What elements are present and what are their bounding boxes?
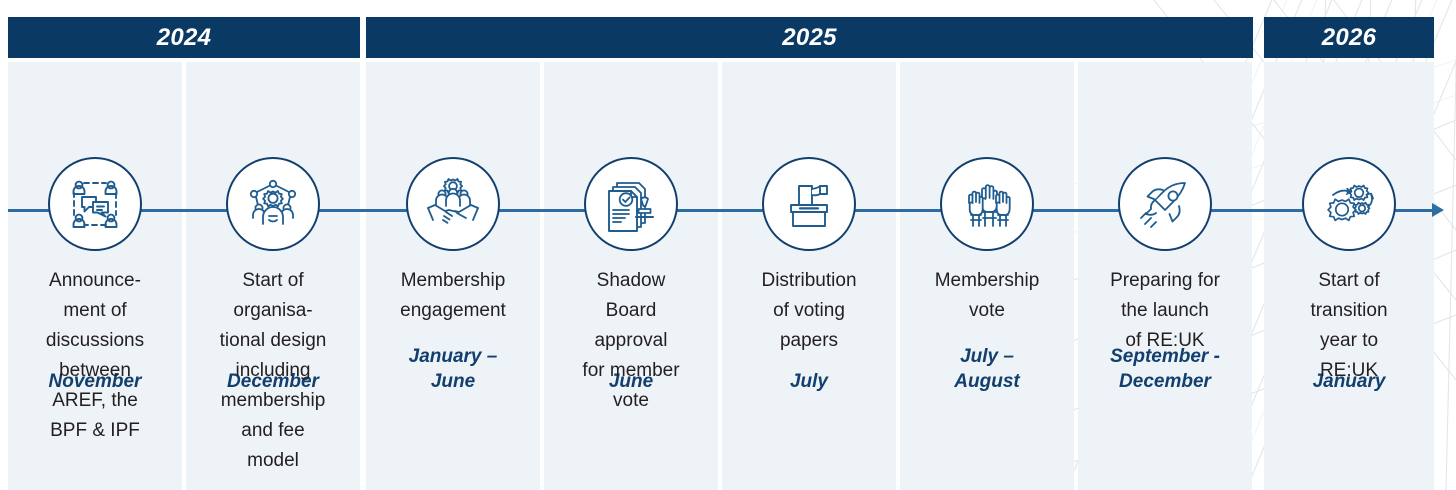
milestone-description: Membership engagement <box>366 266 540 326</box>
gears-transition-icon <box>1321 176 1377 232</box>
document-approval-stamp-icon <box>603 176 659 232</box>
milestone-description: Membership vote <box>900 266 1074 326</box>
milestone-december-2024[interactable]: December Start of organisa- tional desig… <box>186 62 360 490</box>
handshake-engagement-icon <box>424 175 482 233</box>
milestone-description: Shadow Board approval for member vote <box>544 266 718 416</box>
milestone-january-june-2025[interactable]: January – June Membership engagement <box>366 62 540 490</box>
raised-hands-vote-icon <box>960 177 1014 231</box>
rocket-launch-icon <box>1138 177 1192 231</box>
milestone-icon-circle[interactable] <box>226 157 320 251</box>
year-bar-2025: 2025 <box>366 17 1253 58</box>
milestone-july-2025[interactable]: July Distribution of voting papers <box>722 62 896 490</box>
milestone-month-label: July – August <box>900 344 1074 394</box>
milestone-november-2024[interactable]: November Announce- ment of discussions b… <box>8 62 182 490</box>
year-bar-2024: 2024 <box>8 17 360 58</box>
milestone-icon-circle[interactable] <box>584 157 678 251</box>
milestone-icon-circle[interactable] <box>48 157 142 251</box>
milestone-september-december-2025[interactable]: September - December Preparing for the l… <box>1078 62 1252 490</box>
milestone-icon-circle[interactable] <box>762 157 856 251</box>
milestone-description: Preparing for the launch of RE:UK <box>1078 266 1252 356</box>
organisational-design-icon <box>245 176 301 232</box>
milestone-description: Start of organisa- tional design includi… <box>186 266 360 476</box>
milestone-icon-circle[interactable] <box>1118 157 1212 251</box>
milestone-july-august-2025[interactable]: July – August Membership vote <box>900 62 1074 490</box>
milestone-june-2025[interactable]: June Shadow Board approval for member vo… <box>544 62 718 490</box>
milestone-month-label: January – June <box>366 344 540 394</box>
milestone-month-label: July <box>722 369 896 394</box>
milestone-icon-circle[interactable] <box>940 157 1034 251</box>
ballot-box-icon <box>781 176 837 232</box>
milestone-description: Start of transition year to RE:UK <box>1264 266 1434 386</box>
milestone-icon-circle[interactable] <box>406 157 500 251</box>
milestone-january-2026[interactable]: January <box>1264 62 1434 490</box>
timeline-infographic: 2024 2025 2026 November <box>0 0 1456 490</box>
milestone-description: Distribution of voting papers <box>722 266 896 356</box>
year-bar-2026: 2026 <box>1264 17 1434 58</box>
milestone-description: Announce- ment of discussions between AR… <box>8 266 182 446</box>
discussion-group-icon <box>66 175 124 233</box>
milestone-icon-circle[interactable] <box>1302 157 1396 251</box>
